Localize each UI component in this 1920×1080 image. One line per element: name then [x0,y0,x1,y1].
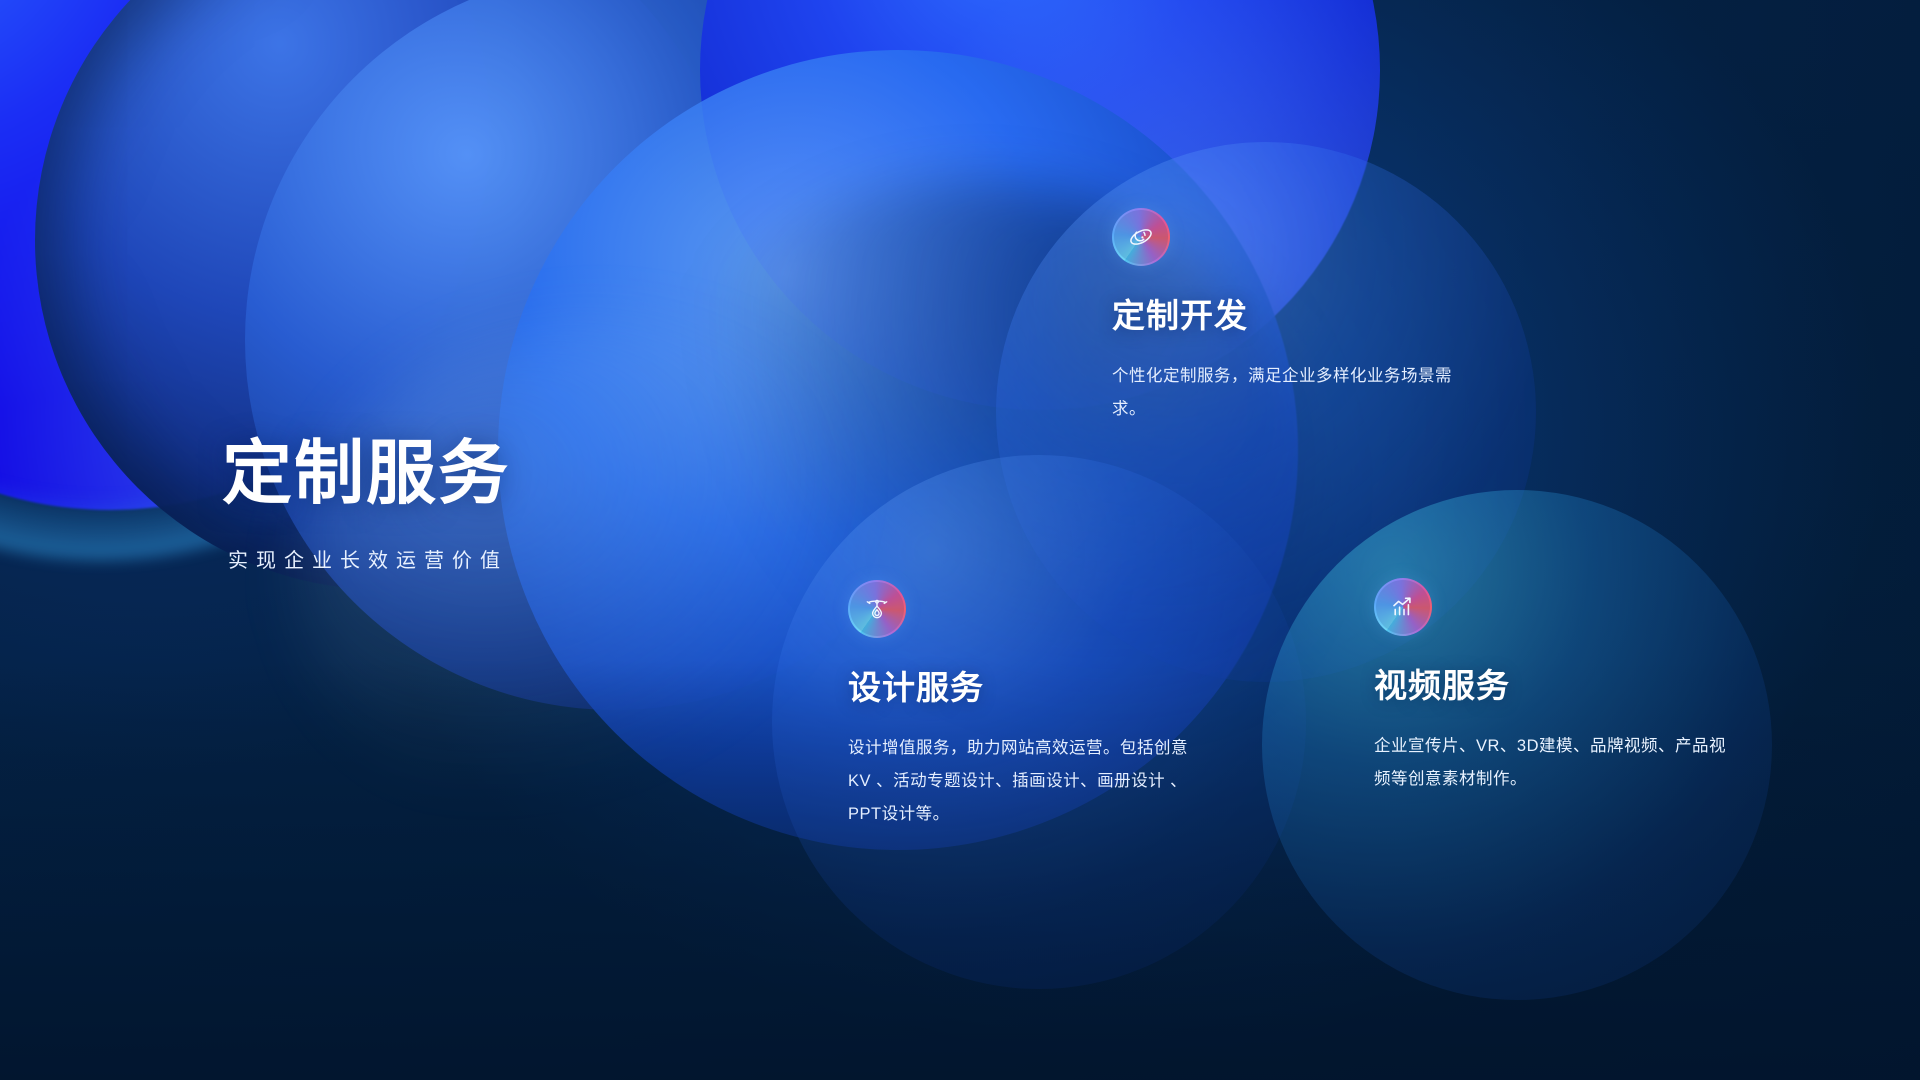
hero-section: 定制服务 实现企业长效运营价值 定制开发 个性化定制服务，满足企业多样化业务场景… [0,0,1920,1080]
service-description: 企业宣传片、VR、3D建模、品牌视频、产品视频等创意素材制作。 [1374,730,1734,796]
service-title: 视频服务 [1374,668,1734,704]
service-title: 设计服务 [848,670,1208,706]
page-subtitle: 实现企业长效运营价值 [228,544,510,573]
service-card-custom-development[interactable]: 定制开发 个性化定制服务，满足企业多样化业务场景需求。 [1112,208,1472,426]
pen-tool-icon [848,580,906,638]
atom-orbit-icon [1112,208,1170,266]
service-description: 设计增值服务，助力网站高效运营。包括创意KV 、活动专题设计、插画设计、画册设计… [848,732,1208,831]
service-title: 定制开发 [1112,298,1472,334]
growth-chart-icon [1374,578,1432,636]
page-title: 定制服务 [222,436,510,510]
service-card-design-service[interactable]: 设计服务 设计增值服务，助力网站高效运营。包括创意KV 、活动专题设计、插画设计… [848,580,1208,831]
hero-text-block: 定制服务 实现企业长效运营价值 [222,436,510,573]
service-description: 个性化定制服务，满足企业多样化业务场景需求。 [1112,360,1472,426]
service-card-video-service[interactable]: 视频服务 企业宣传片、VR、3D建模、品牌视频、产品视频等创意素材制作。 [1374,578,1734,796]
